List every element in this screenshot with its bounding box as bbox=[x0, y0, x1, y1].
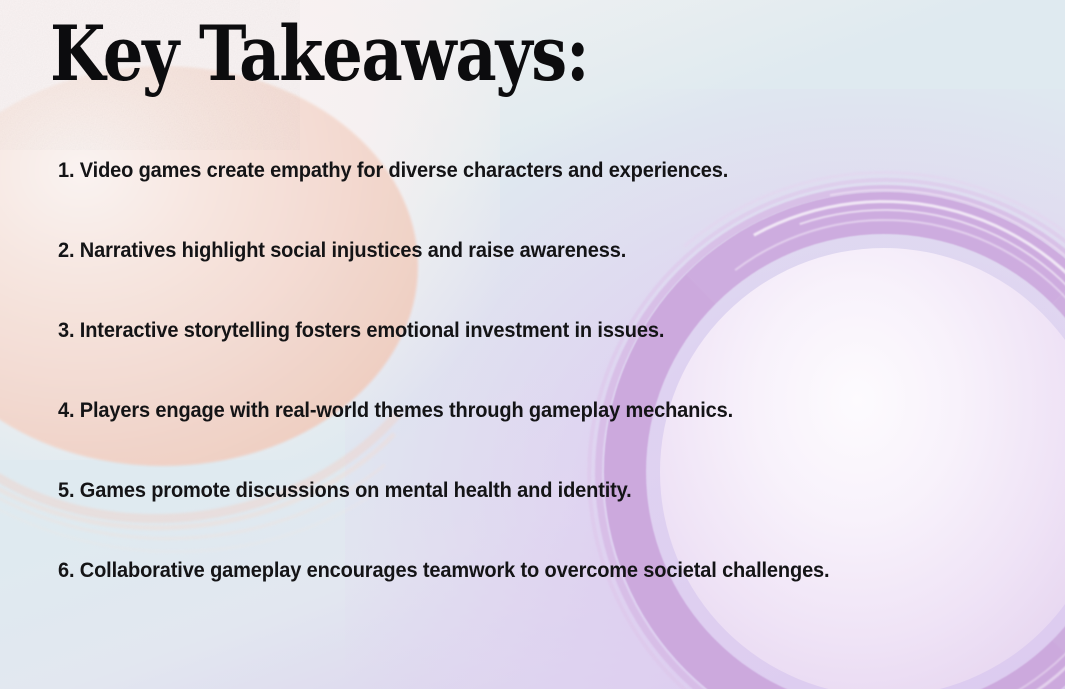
list-item: 3. Interactive storytelling fosters emot… bbox=[58, 312, 957, 392]
list-item: 2. Narratives highlight social injustice… bbox=[58, 232, 957, 312]
list-item: 1. Video games create empathy for divers… bbox=[58, 152, 957, 232]
takeaways-list: 1. Video games create empathy for divers… bbox=[58, 152, 1025, 632]
slide-canvas: Key Takeaways: 1. Video games create emp… bbox=[0, 0, 1065, 689]
list-item: 4. Players engage with real-world themes… bbox=[58, 392, 957, 472]
slide-content: Key Takeaways: 1. Video games create emp… bbox=[0, 0, 1065, 689]
list-item: 5. Games promote discussions on mental h… bbox=[58, 472, 957, 552]
list-item: 6. Collaborative gameplay encourages tea… bbox=[58, 552, 957, 632]
page-title: Key Takeaways: bbox=[50, 16, 588, 92]
